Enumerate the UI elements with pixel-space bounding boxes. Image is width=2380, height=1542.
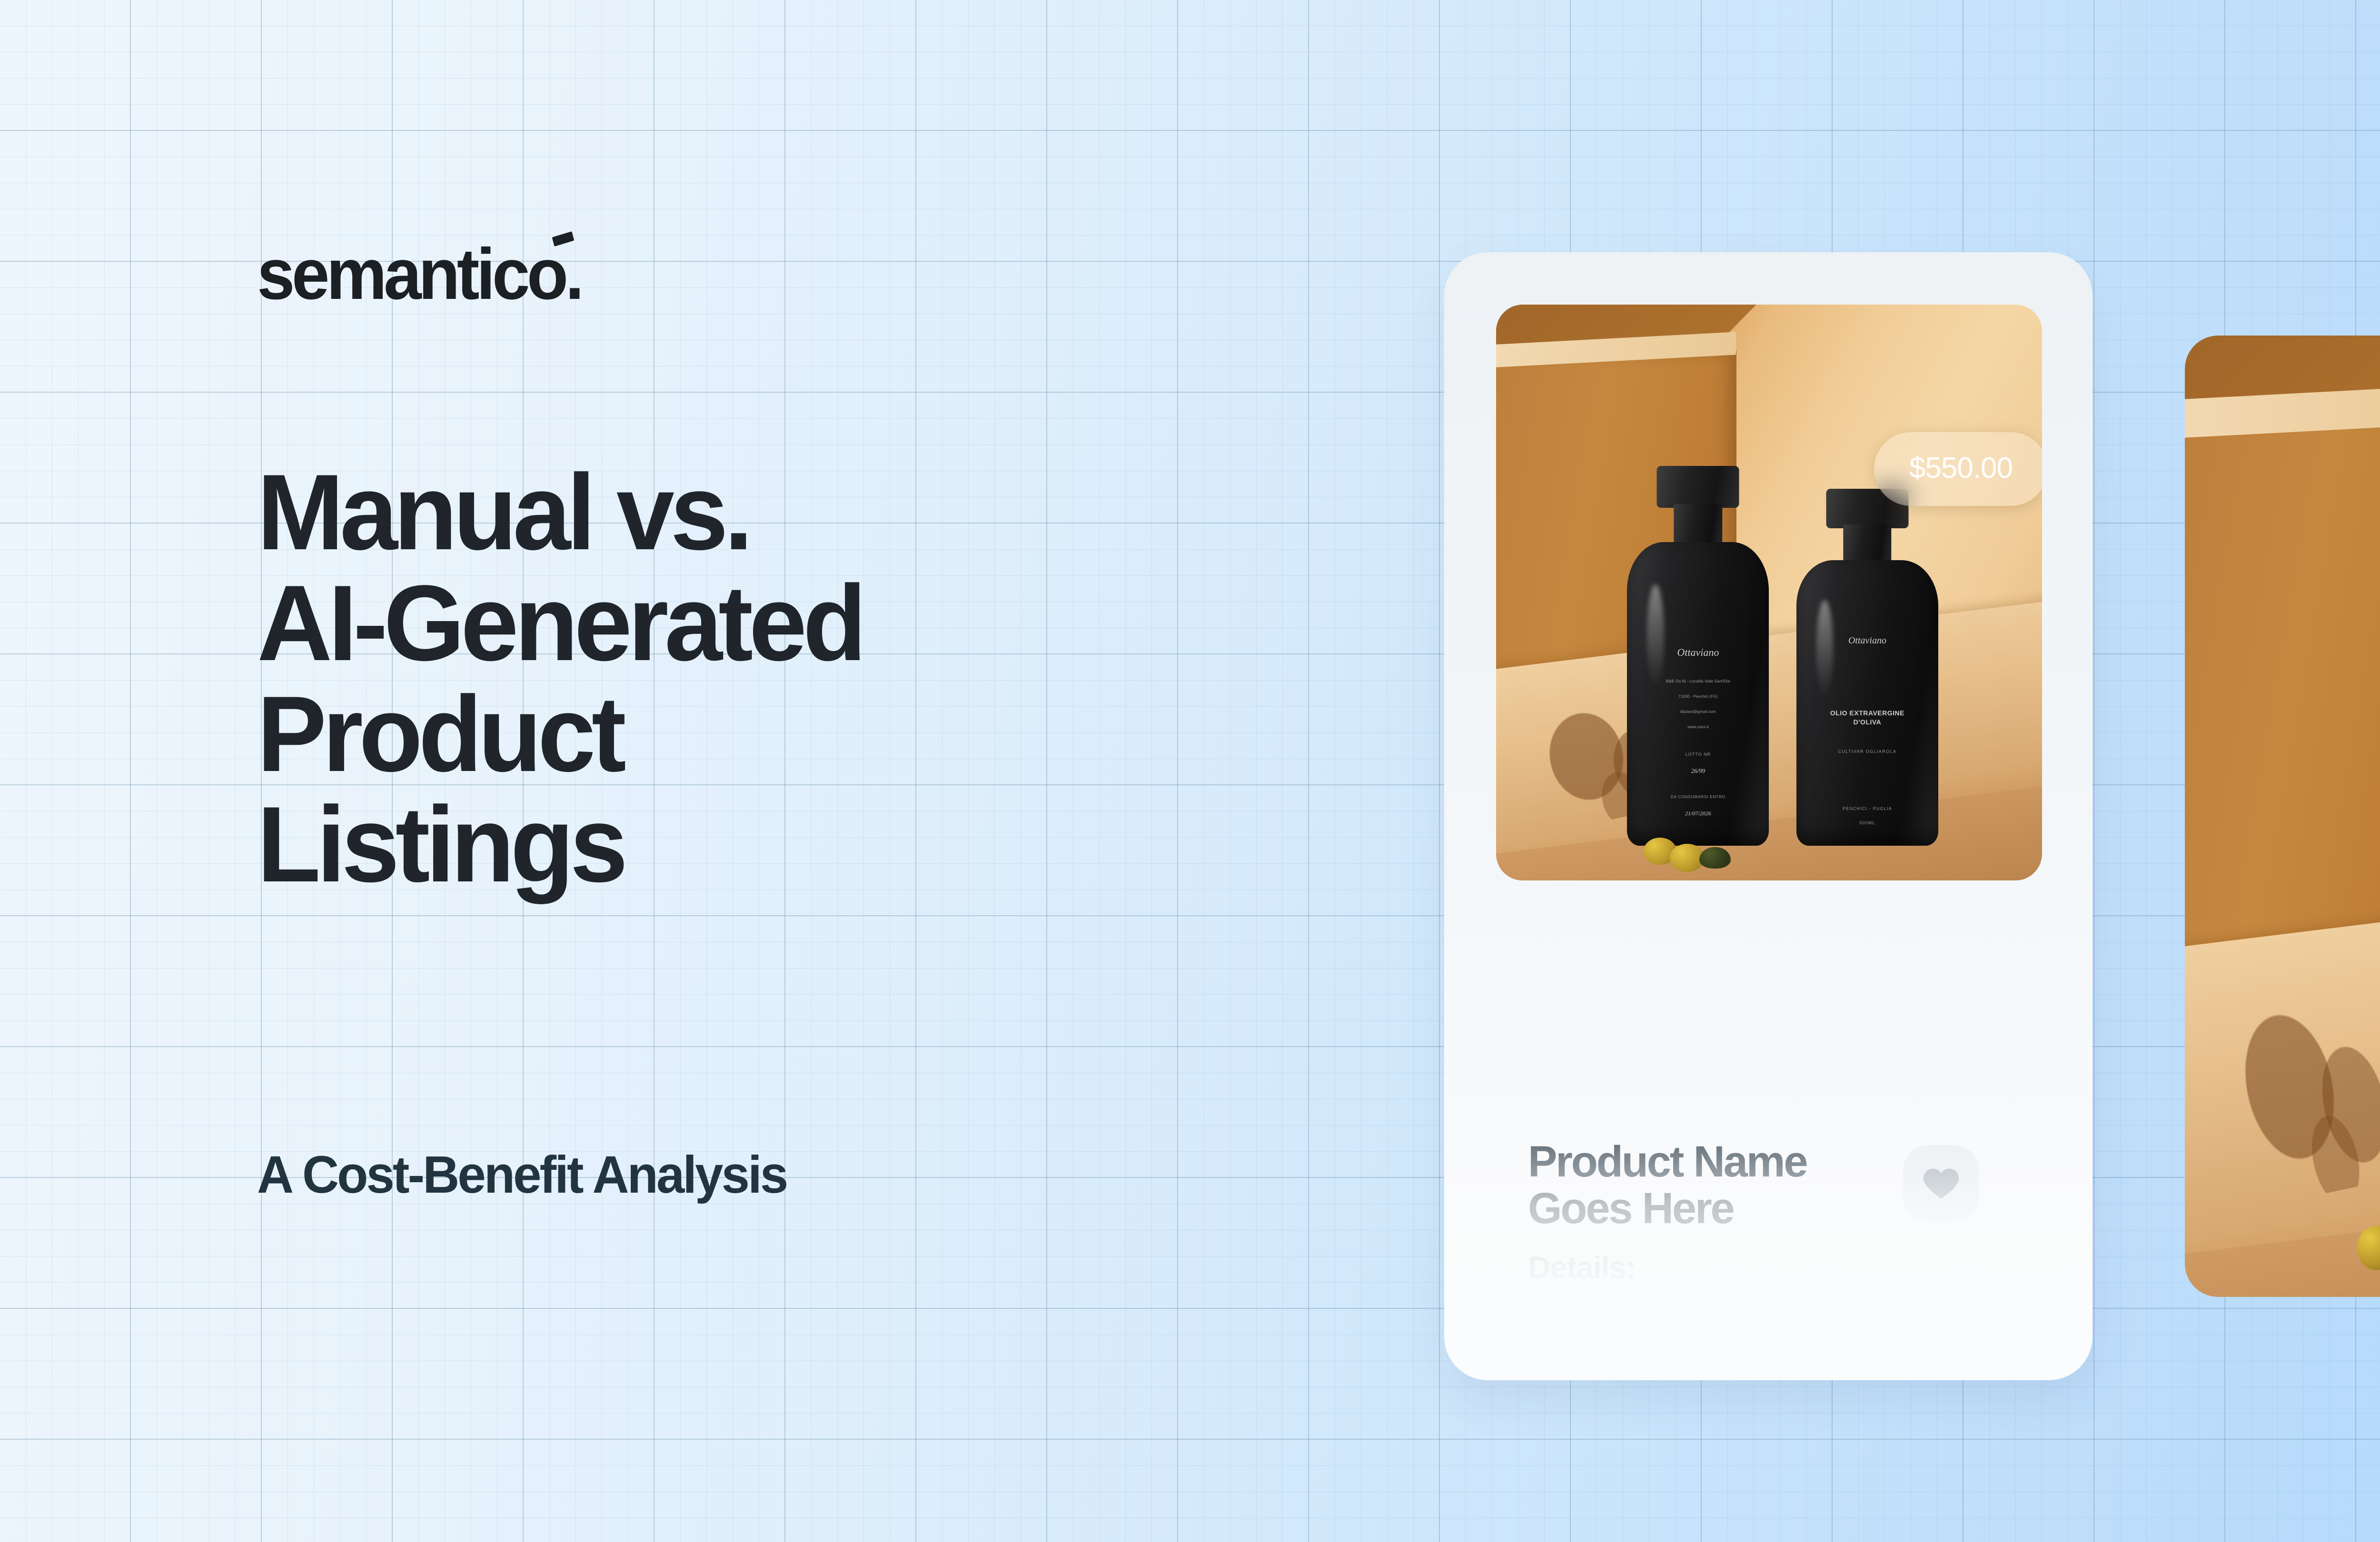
bottle-product-label: OLIO EXTRAVERGINE D'OLIVA [1796,709,1938,727]
list-item: Style: HM6803-103 [1528,1313,2092,1354]
product-scene-secondary: Ottaviano B&B Zia Ni - Località Valle Sa… [2185,336,2380,1297]
bottle-expiry-date: 21/07/2026 [1627,810,1769,817]
bottle-origin-label: PESCHICI - PUGLIA [1796,806,1938,811]
details-label: Details: [1528,1249,2092,1285]
bottle-cultivar-label: CULTIVAR OGLIAROLA [1796,749,1938,754]
bottle-lot-label: LOTTO NR [1627,751,1769,757]
brand-logo[interactable]: semantico. [257,238,581,310]
bottle-address-line-2: 71030 - Peschici (FG) [1627,694,1769,699]
product-card-body: Product Name Goes Here Details: Style: H… [1528,1138,2092,1380]
bottle-glint [1647,584,1664,688]
bottle-glint [1816,600,1834,697]
bottle-body: Ottaviano B&B Zia Ni - Località Valle Sa… [1627,542,1769,846]
bottle-left: Ottaviano B&B Zia Ni - Località Valle Sa… [1627,466,1769,846]
scene-olives [2357,1196,2380,1283]
bottle-body: Ottaviano OLIO EXTRAVERGINE D'OLIVA CULT… [1796,560,1938,846]
bottle-address-line-1: B&B Zia Ni - Località Valle Sant'Elia [1627,679,1769,684]
bottle-cap [1657,466,1739,508]
list-item: Heel-to-toe drop: 10mm [1528,1367,2092,1380]
product-photo: Ottaviano B&B Zia Ni - Località Valle Sa… [1496,305,2042,880]
product-details-list: Style: HM6803-103 Heel-to-toe drop: 10mm… [1528,1313,2092,1380]
bottle-website: www.ziani.it [1627,724,1769,730]
bottle-right: Ottaviano OLIO EXTRAVERGINE D'OLIVA CULT… [1796,489,1938,846]
bottle-lot-number: 26/99 [1627,767,1769,775]
bottle-brand-label: Ottaviano [1627,645,1769,660]
bottle-volume-label: 500ML [1796,820,1938,826]
price-badge: $550.00 [1874,432,2042,506]
product-card-secondary[interactable]: Ottaviano B&B Zia Ni - Località Valle Sa… [2185,336,2380,1297]
bottle-brand-label: Ottaviano [1796,634,1938,647]
product-title: Product Name Goes Here [1528,1138,1890,1232]
product-scene: Ottaviano B&B Zia Ni - Località Valle Sa… [1496,305,2042,880]
olive-dark [1699,847,1731,869]
brand-logo-text: semantico. [257,234,581,315]
page-title: Manual vs. AI-Generated Product Listings [257,457,863,900]
bottle-email: bbziani@gmail.com [1627,709,1769,714]
olive-green [2357,1226,2380,1271]
hero-text-column: semantico. Manual vs. AI-Generated Produ… [257,0,1399,1542]
scene-olives [1644,820,1731,872]
page-subtitle: A Cost-Benefit Analysis [257,1145,786,1205]
favorite-button[interactable] [1903,1145,1979,1221]
product-card[interactable]: Ottaviano B&B Zia Ni - Località Valle Sa… [1444,252,2092,1380]
bottle-expiry-label: DA CONSUMARSI ENTRO [1627,794,1769,800]
product-photo-secondary: Ottaviano B&B Zia Ni - Località Valle Sa… [2185,336,2380,1297]
heart-icon [1921,1163,1962,1204]
